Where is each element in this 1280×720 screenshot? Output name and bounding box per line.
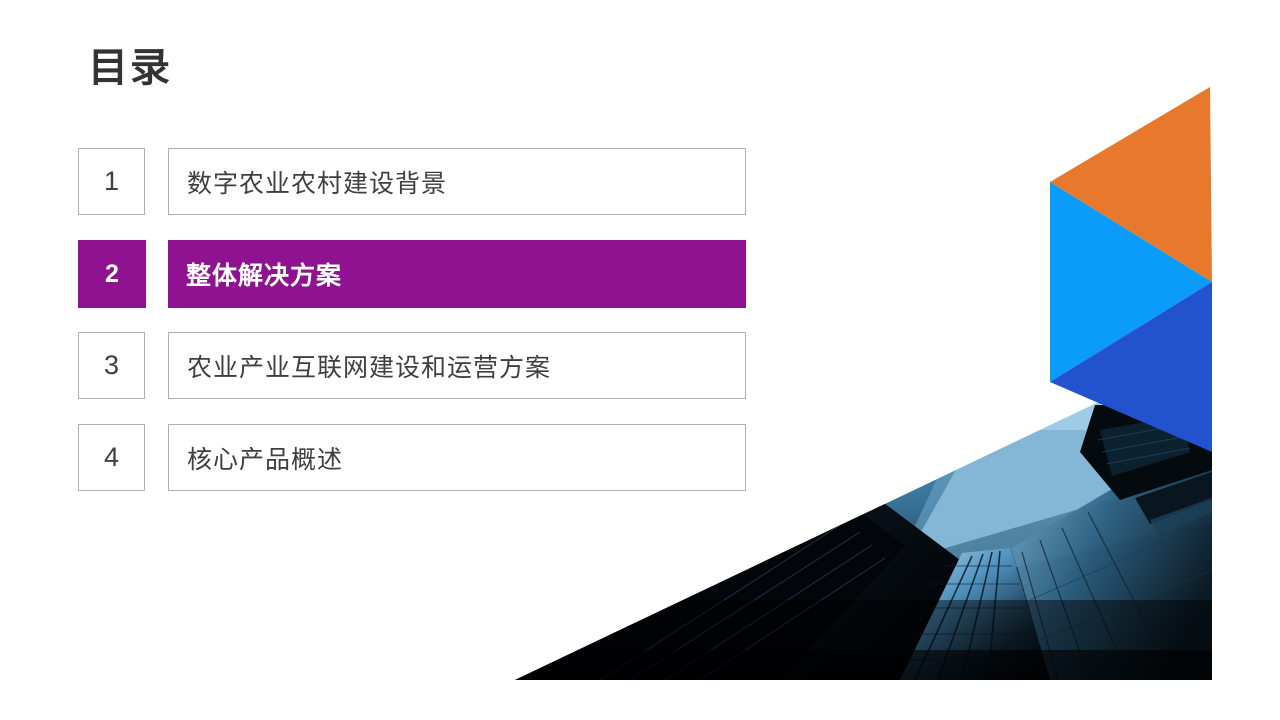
toc-row-3[interactable]: 3 农业产业互联网建设和运营方案 (78, 332, 746, 400)
toc-label-4: 核心产品概述 (168, 424, 746, 491)
toc-number-2: 2 (78, 240, 146, 308)
toc-row-2[interactable]: 2 整体解决方案 (78, 240, 746, 308)
toc-list: 1 数字农业农村建设背景 2 整体解决方案 3 农业产业互联网建设和运营方案 4… (78, 148, 746, 492)
toc-row-1[interactable]: 1 数字农业农村建设背景 (78, 148, 746, 216)
toc-number-1: 1 (78, 148, 145, 215)
toc-number-4: 4 (78, 424, 145, 491)
toc-number-3: 3 (78, 332, 145, 399)
toc-label-1: 数字农业农村建设背景 (168, 148, 746, 215)
cyan-triangle (1050, 182, 1212, 382)
toc-row-4[interactable]: 4 核心产品概述 (78, 424, 746, 492)
toc-label-2: 整体解决方案 (168, 240, 746, 308)
blue-triangle (1050, 282, 1212, 452)
slide-canvas: 目录 1 数字农业农村建设背景 2 整体解决方案 3 农业产业互联网建设和运营方… (0, 0, 1280, 720)
toc-label-3: 农业产业互联网建设和运营方案 (168, 332, 746, 399)
orange-triangle (1050, 87, 1212, 282)
page-title: 目录 (88, 46, 172, 90)
